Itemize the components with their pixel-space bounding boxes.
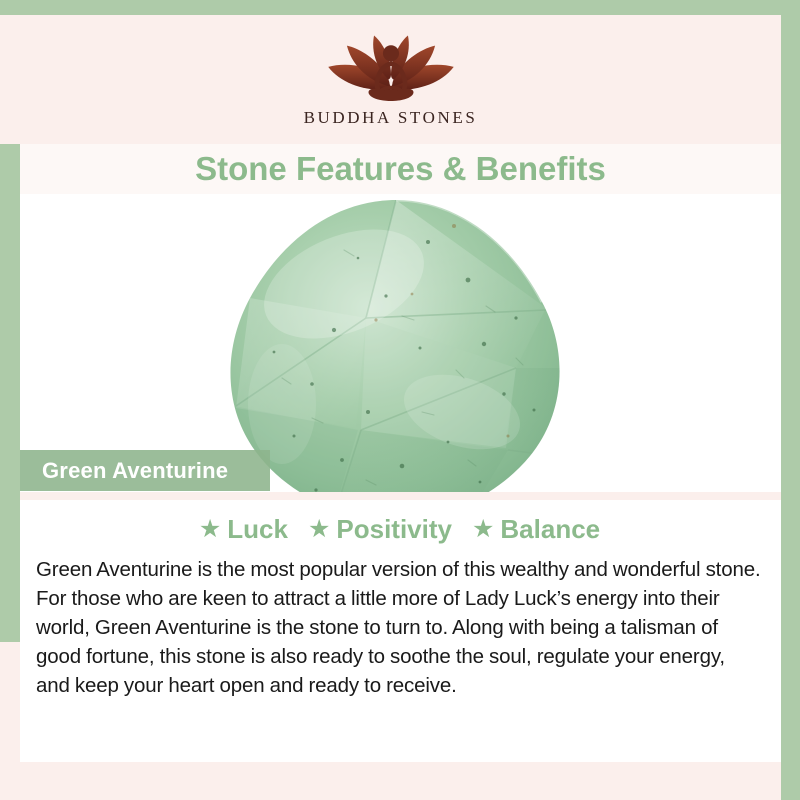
brand-wordmark: BUDDHA STONES (304, 108, 478, 128)
decorative-band-top (0, 0, 800, 15)
description-panel: ★ Luck ★ Positivity ★ Balance Green Aven… (20, 500, 781, 762)
decorative-band-right (781, 0, 800, 800)
keyword-list: ★ Luck ★ Positivity ★ Balance (36, 514, 763, 545)
green-aventurine-stone-image (216, 198, 576, 492)
lotus-meditation-icon (306, 27, 476, 105)
keyword-label: Positivity (336, 514, 452, 545)
description-paragraph: Green Aventurine is the most popular ver… (36, 555, 763, 701)
section-separator (20, 492, 781, 500)
star-icon: ★ (308, 517, 330, 542)
stone-name-badge: Green Aventurine (20, 450, 270, 491)
star-icon: ★ (199, 517, 221, 542)
bottom-cream-strip (20, 762, 781, 800)
stone-photo-area: Green Aventurine (20, 194, 781, 492)
keyword-item-balance: ★ Balance (472, 514, 600, 545)
stone-name-label: Green Aventurine (42, 458, 228, 484)
star-icon: ★ (472, 517, 494, 542)
brand-header: BUDDHA STONES (0, 15, 781, 144)
infographic-poster: BUDDHA STONES Stone Features & Benefits (0, 0, 800, 800)
keyword-label: Balance (500, 514, 600, 545)
page-title: Stone Features & Benefits (195, 150, 606, 188)
keyword-label: Luck (227, 514, 288, 545)
keyword-item-luck: ★ Luck (199, 514, 288, 545)
title-band: Stone Features & Benefits (20, 144, 781, 194)
keyword-item-positivity: ★ Positivity (308, 514, 452, 545)
